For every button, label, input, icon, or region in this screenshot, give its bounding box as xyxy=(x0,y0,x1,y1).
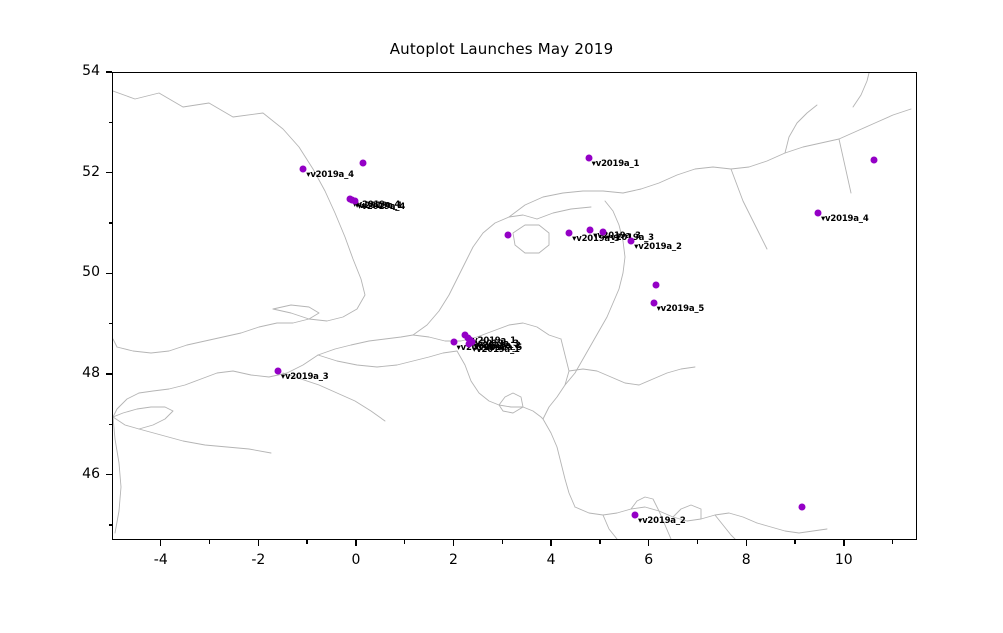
scatter-point-label: ▾v2019a_4 xyxy=(306,170,354,180)
x-axis-minor-tick xyxy=(502,540,503,544)
y-axis-tick-label: 48 xyxy=(40,365,100,381)
y-axis-tick-label: 50 xyxy=(40,264,100,280)
scatter-point-label: ▾v2019a_2 xyxy=(634,242,682,252)
chart-title: Autoplot Launches May 2019 xyxy=(0,40,1003,58)
x-axis-tick-label: -4 xyxy=(131,552,191,568)
x-axis-tick-label: 4 xyxy=(521,552,581,568)
y-axis-tick-label: 52 xyxy=(40,164,100,180)
y-axis-tick xyxy=(106,172,112,173)
x-axis-tick xyxy=(453,540,454,546)
plot-area[interactable]: ▾v2019a_4▾v2019a_4▾v2019a_1▾v2019a_4▾v20… xyxy=(112,72,917,540)
x-axis-minor-tick xyxy=(892,540,893,544)
scatter-point-label: ▾v2019a_4 xyxy=(821,214,869,224)
x-axis-tick xyxy=(160,540,161,546)
map-coastlines xyxy=(113,73,917,540)
x-axis-tick xyxy=(746,540,747,546)
scatter-point[interactable] xyxy=(652,282,659,289)
x-axis-minor-tick xyxy=(404,540,405,544)
x-axis-tick xyxy=(648,540,649,546)
x-axis-tick xyxy=(355,540,356,546)
x-axis-minor-tick xyxy=(599,540,600,544)
x-axis-minor-tick xyxy=(794,540,795,544)
x-axis-minor-tick xyxy=(209,540,210,544)
scatter-point-label: ▾v2019a_3 xyxy=(281,372,329,382)
y-axis-tick-label: 46 xyxy=(40,466,100,482)
figure-canvas: Autoplot Launches May 2019 xyxy=(0,0,1003,633)
scatter-point-label: ▾v2019a_5 xyxy=(657,304,705,314)
y-axis-tick xyxy=(106,474,112,475)
scatter-point[interactable] xyxy=(359,159,366,166)
y-axis-minor-tick xyxy=(109,424,113,425)
x-axis-tick-label: 0 xyxy=(326,552,386,568)
x-axis-tick-label: 10 xyxy=(814,552,874,568)
x-axis-minor-tick xyxy=(306,540,307,544)
scatter-point[interactable] xyxy=(505,232,512,239)
y-axis-minor-tick xyxy=(109,323,113,324)
x-axis-tick-label: 8 xyxy=(716,552,776,568)
y-axis-tick xyxy=(106,373,112,374)
y-axis-tick xyxy=(106,71,112,72)
scatter-point-label: ▾v2019a_1 xyxy=(592,159,640,169)
scatter-point-label: ▾v2019a_1 xyxy=(472,345,520,355)
x-axis-minor-tick xyxy=(697,540,698,544)
x-axis-tick-label: -2 xyxy=(228,552,288,568)
scatter-point[interactable] xyxy=(871,156,878,163)
scatter-point-label: ▾v2019a_4 xyxy=(358,202,406,212)
x-axis-tick xyxy=(258,540,259,546)
x-axis-tick-label: 6 xyxy=(619,552,679,568)
y-axis-minor-tick xyxy=(109,524,113,525)
x-axis-tick xyxy=(843,540,844,546)
x-axis-tick-label: 2 xyxy=(424,552,484,568)
scatter-point[interactable] xyxy=(798,503,805,510)
x-axis-tick xyxy=(550,540,551,546)
y-axis-tick-label: 54 xyxy=(40,63,100,79)
y-axis-minor-tick xyxy=(109,222,113,223)
y-axis-tick xyxy=(106,273,112,274)
y-axis-minor-tick xyxy=(109,122,113,123)
scatter-point-label: ▾v2019a_2 xyxy=(638,516,686,526)
